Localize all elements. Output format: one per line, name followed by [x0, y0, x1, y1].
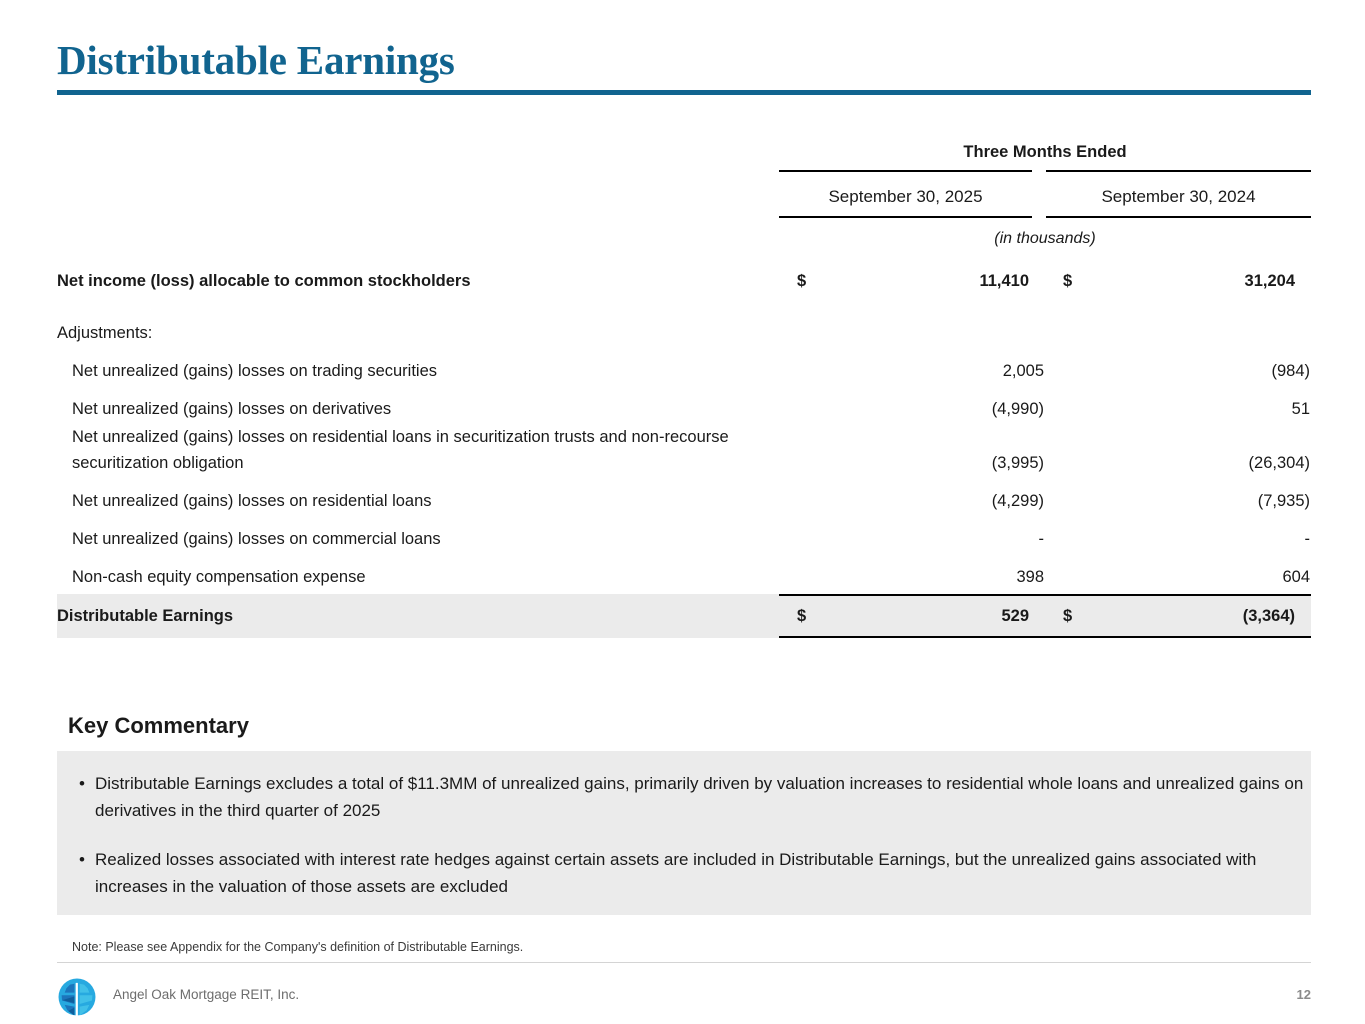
row-label: Net unrealized (gains) losses on residen… [57, 424, 782, 476]
table-row: Net unrealized (gains) losses on derivat… [57, 396, 1311, 422]
span-header-rule-col2 [1046, 170, 1311, 172]
footer-company-name: Angel Oak Mortgage REIT, Inc. [113, 987, 299, 1002]
row-value-col1: (3,995) [794, 450, 1047, 476]
value-text: 31,204 [1245, 268, 1295, 294]
value-text: 11,410 [979, 268, 1029, 294]
row-label: Non-cash equity compensation expense [57, 564, 794, 590]
row-spacer [57, 346, 1311, 358]
row-value-col1: - [794, 526, 1047, 552]
column-header-2025: September 30, 2025 [779, 184, 1032, 210]
table-row: Net income (loss) allocable to common st… [57, 268, 1311, 294]
commentary-heading: Key Commentary [68, 713, 249, 739]
row-value-col1: (4,990) [794, 396, 1047, 422]
table-span-header: Three Months Ended [779, 140, 1311, 164]
value-text: - [1305, 526, 1311, 552]
commentary-bullet-item: • Realized losses associated with intere… [69, 846, 1304, 900]
row-value-col2: 604 [1060, 564, 1313, 590]
footnote-text: Note: Please see Appendix for the Compan… [72, 940, 523, 954]
value-text: (4,990) [992, 396, 1044, 422]
row-value-col1: (4,299) [794, 488, 1047, 514]
angel-oak-leaf-logo-icon [55, 975, 99, 1019]
row-spacer [57, 514, 1311, 526]
row-label: Adjustments: [57, 320, 779, 346]
value-text: 529 [1001, 603, 1029, 629]
row-label: Net income (loss) allocable to common st… [57, 268, 779, 294]
row-value-col2: (26,304) [1060, 450, 1313, 476]
column-header-rule-col1 [779, 216, 1032, 218]
row-value-col1: $ 529 [779, 603, 1032, 629]
row-value-col1 [779, 320, 1032, 346]
row-label: Distributable Earnings [57, 603, 779, 629]
row-value-col2: (7,935) [1060, 488, 1313, 514]
row-label: Net unrealized (gains) losses on derivat… [57, 396, 794, 422]
row-spacer [57, 384, 1311, 396]
value-text: 51 [1292, 396, 1310, 422]
row-label: Net unrealized (gains) losses on residen… [57, 488, 794, 514]
table-row: Net unrealized (gains) losses on commerc… [57, 526, 1311, 552]
currency-symbol: $ [1063, 603, 1072, 629]
row-value-col2: - [1060, 526, 1313, 552]
value-text: (4,299) [992, 488, 1044, 514]
row-value-col2: 51 [1060, 396, 1313, 422]
value-text: - [1039, 526, 1045, 552]
total-row-top-rule [779, 594, 1311, 596]
currency-symbol: $ [797, 603, 806, 629]
commentary-bullet-item: • Distributable Earnings excludes a tota… [69, 770, 1304, 824]
currency-symbol: $ [797, 268, 806, 294]
span-header-rule-col1 [779, 170, 1032, 172]
row-value-col2: (984) [1060, 358, 1313, 384]
table-row: Net unrealized (gains) losses on residen… [57, 424, 1311, 476]
table-row: Net unrealized (gains) losses on residen… [57, 488, 1311, 514]
row-spacer [57, 552, 1311, 564]
row-label: Net unrealized (gains) losses on trading… [57, 358, 794, 384]
table-row: Non-cash equity compensation expense 398… [57, 564, 1311, 590]
bullet-text: Realized losses associated with interest… [95, 846, 1304, 900]
row-spacer [57, 476, 1311, 488]
value-text: 2,005 [1003, 358, 1044, 384]
value-text: 398 [1016, 564, 1044, 590]
bullet-marker-icon: • [69, 846, 95, 900]
bullet-text: Distributable Earnings excludes a total … [95, 770, 1304, 824]
page-number: 12 [1297, 987, 1311, 1002]
table-row: Adjustments: [57, 320, 1311, 346]
table-row: Net unrealized (gains) losses on trading… [57, 358, 1311, 384]
value-text: 604 [1282, 564, 1310, 590]
column-header-rule-col2 [1046, 216, 1311, 218]
value-text: (3,995) [992, 450, 1044, 476]
units-note: (in thousands) [779, 226, 1311, 252]
row-value-col2: $ 31,204 [1045, 268, 1298, 294]
value-text: (984) [1271, 358, 1310, 384]
page-title: Distributable Earnings [57, 36, 455, 84]
title-underline-rule [57, 90, 1311, 95]
row-label: Net unrealized (gains) losses on commerc… [57, 526, 794, 552]
total-row-wrapper: Distributable Earnings $ 529 $ (3,364) [57, 594, 1311, 638]
currency-symbol: $ [1063, 268, 1072, 294]
commentary-panel: • Distributable Earnings excludes a tota… [57, 751, 1311, 915]
value-text: (3,364) [1243, 603, 1295, 629]
row-value-col1: 398 [794, 564, 1047, 590]
total-row-bottom-rule [779, 636, 1311, 638]
row-value-col2 [1045, 320, 1298, 346]
table-row-total: Distributable Earnings $ 529 $ (3,364) [57, 603, 1311, 629]
row-spacer [57, 294, 1311, 320]
row-value-col2: $ (3,364) [1045, 603, 1298, 629]
column-header-2024: September 30, 2024 [1046, 184, 1311, 210]
value-text: (7,935) [1258, 488, 1310, 514]
row-value-col1: $ 11,410 [779, 268, 1032, 294]
value-text: (26,304) [1249, 450, 1310, 476]
row-value-col1: 2,005 [794, 358, 1047, 384]
footer-divider-rule [57, 962, 1311, 963]
bullet-marker-icon: • [69, 770, 95, 824]
